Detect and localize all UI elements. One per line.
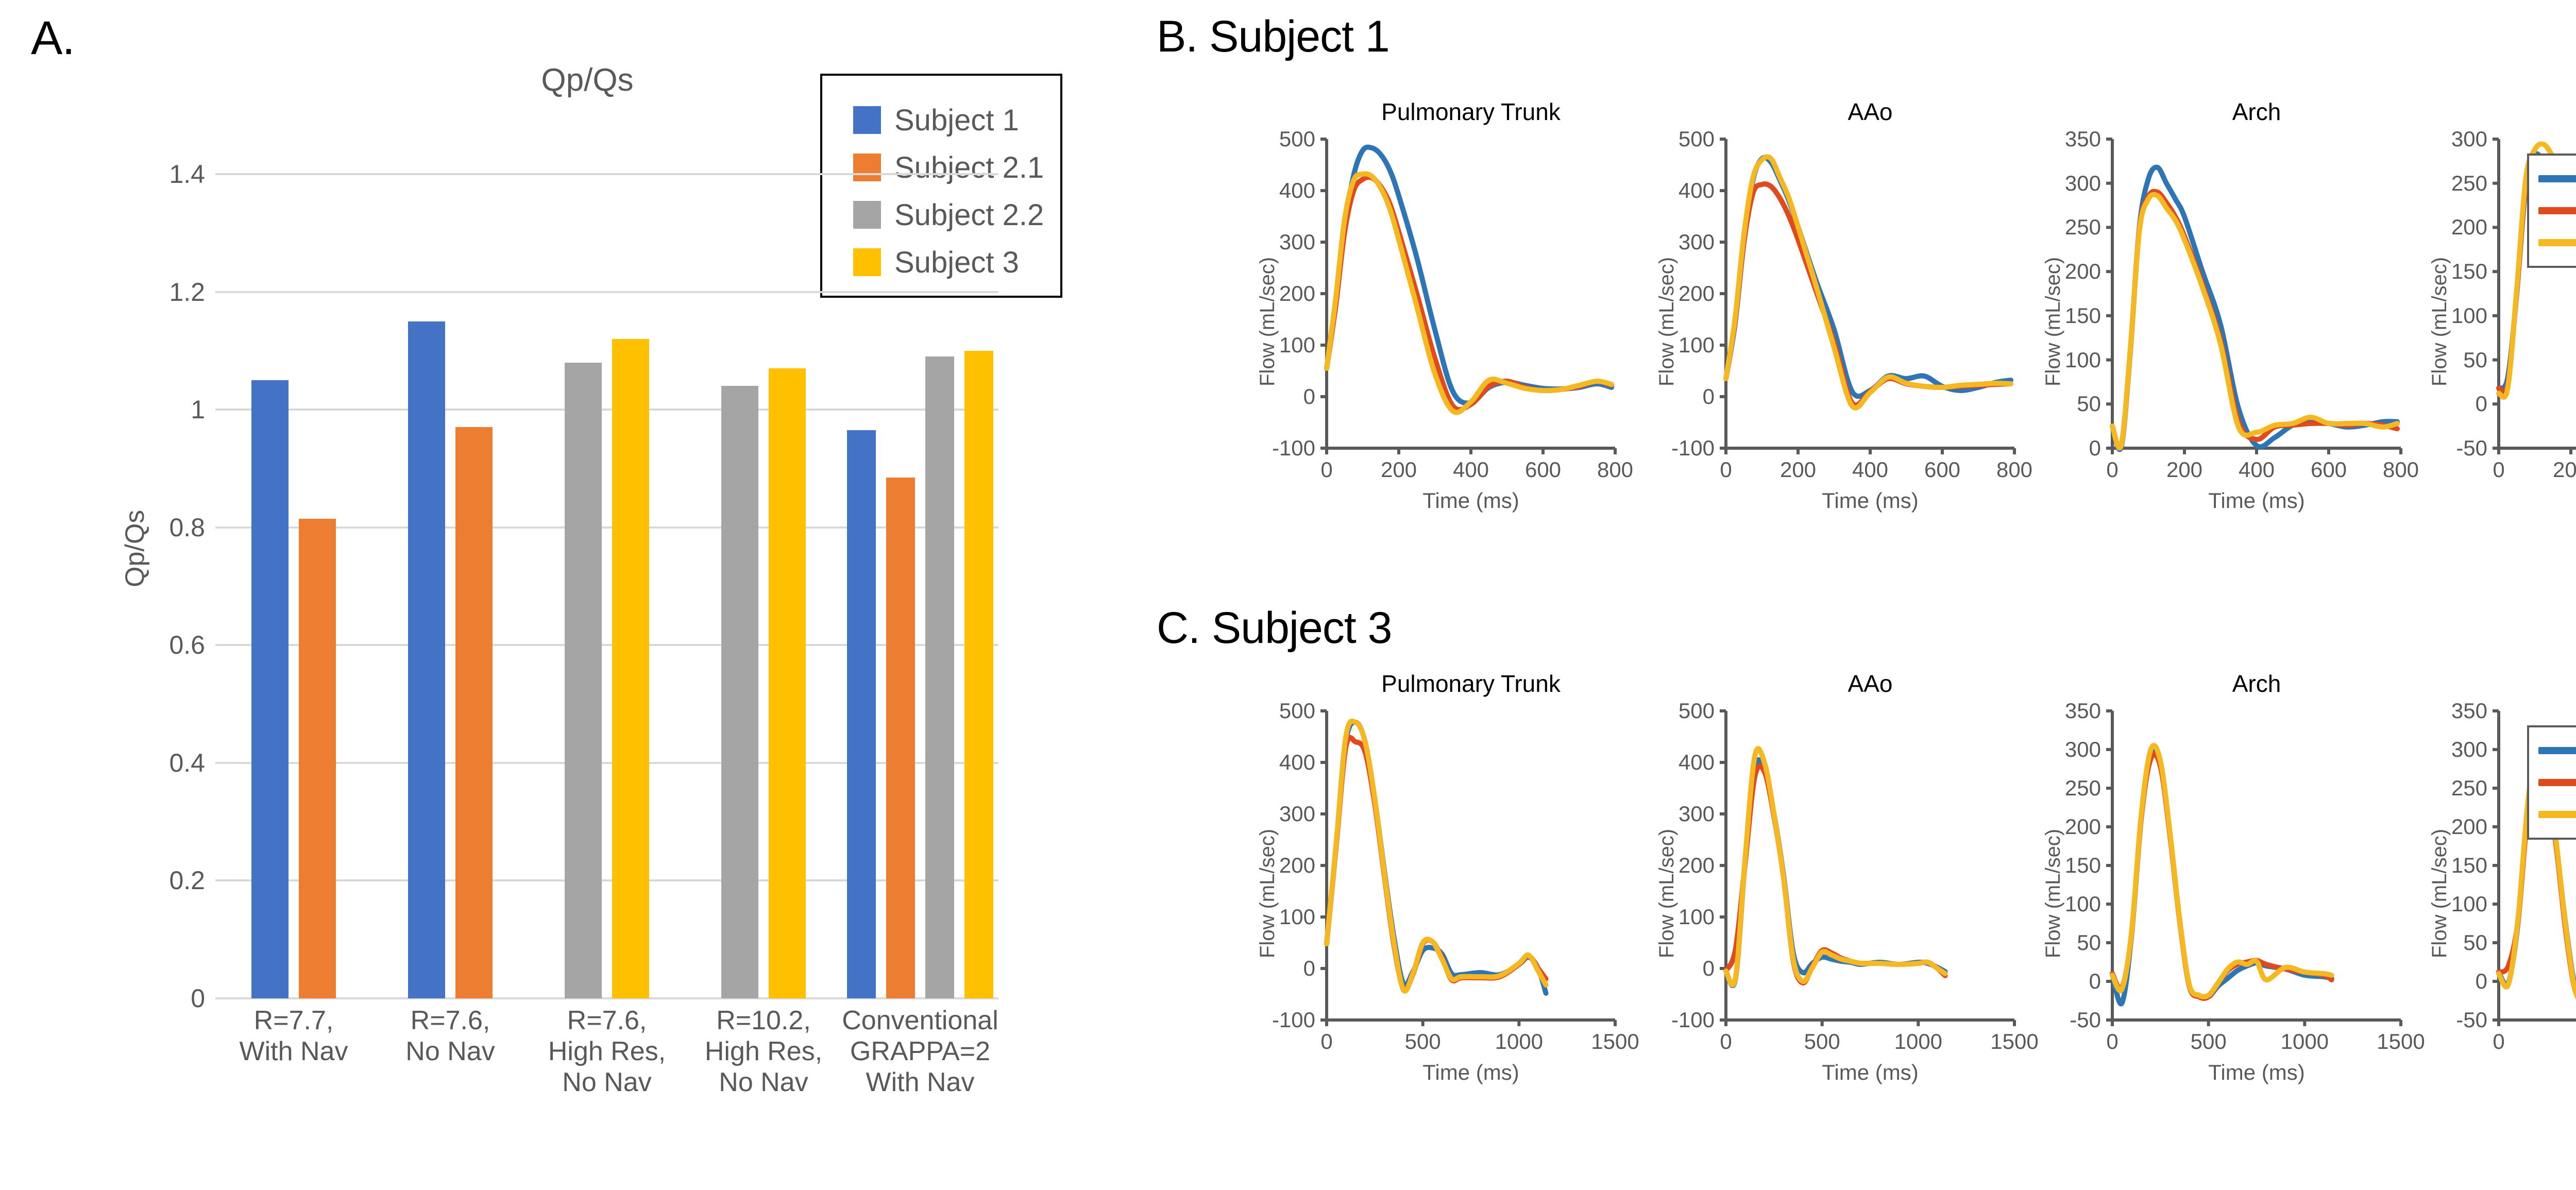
- bar[interactable]: [721, 386, 758, 998]
- bar[interactable]: [299, 519, 336, 998]
- x-axis-category-label: ConventionalGRAPPA=2With Nav: [842, 1006, 998, 1098]
- y-axis-tick-label: 1.4: [102, 159, 205, 189]
- flow-subplot-b_dao: DAoFlow (mL/sec)Time (ms)-50050100150200…: [2409, 98, 2576, 525]
- flow-subplot-b_pulmonary_trunk: Pulmonary TrunkFlow (mL/sec)Time (ms)-10…: [1236, 98, 1646, 525]
- y-axis-tick-label: 1: [102, 395, 205, 424]
- panel-a-bar-chart: A. Qp/Qs Subject 1 Subject 2.1 Subject 2…: [0, 0, 1144, 1190]
- y-axis-tick-label: 0.4: [102, 748, 205, 778]
- bar[interactable]: [455, 427, 493, 998]
- flow-curve: [1726, 157, 2011, 407]
- legend-item[interactable]: Subject 1: [853, 96, 1060, 144]
- x-axis-category-label: R=7.7,With Nav: [215, 1006, 372, 1067]
- flow-curve: [1726, 766, 1945, 983]
- legend-line-swatch: [2538, 811, 2576, 818]
- flow-legend: R=7.6, No NavR=7.7, With NavConventional…: [2527, 154, 2576, 268]
- bar-group: [372, 174, 529, 998]
- flow-subplot-c_aao: AAoFlow (mL/sec)Time (ms)-10001002003004…: [1636, 670, 2045, 1097]
- legend-line-swatch: [2538, 747, 2576, 754]
- x-axis-category-label: R=7.6,No Nav: [372, 1006, 529, 1067]
- flow-curve: [2112, 192, 2397, 448]
- flow-subplot-c_dao: DAoFlow (mL/sec)Time (ms)-50050100150200…: [2409, 670, 2576, 1097]
- x-axis-category-label: R=10.2,High Res,No Nav: [685, 1006, 842, 1098]
- subplot-x-axis-label: Time (ms): [1726, 488, 2014, 513]
- flow-curve: [2112, 167, 2397, 450]
- flow-curve: [1327, 174, 1612, 412]
- legend-line-swatch: [2538, 779, 2576, 786]
- bar[interactable]: [612, 339, 649, 998]
- subplot-x-axis-label: Time (ms): [1726, 1060, 2014, 1085]
- y-axis-tick-label: 0.2: [102, 865, 205, 895]
- y-axis-tick-label: 0.6: [102, 630, 205, 660]
- flow-legend: R=7.6, High Res, No NavR=10.2, High Res,…: [2527, 725, 2576, 840]
- flow-subplot-b_arch: ArchFlow (mL/sec)Time (ms)05010015020025…: [2022, 98, 2432, 525]
- subplot-canvas: [2022, 670, 2432, 1041]
- flow-curve: [1726, 760, 1945, 985]
- subplot-canvas: [1236, 670, 1646, 1041]
- legend-line-swatch: [2538, 175, 2576, 182]
- bar-group: [685, 174, 842, 998]
- bar[interactable]: [408, 321, 445, 998]
- flow-curve: [2112, 195, 2397, 448]
- legend-line-swatch: [2538, 239, 2576, 246]
- bar-chart-title: Qp/Qs: [479, 62, 696, 98]
- legend-item[interactable]: R=7.7, With Nav: [2538, 195, 2576, 227]
- legend-item[interactable]: Conventional, With Nav: [2538, 798, 2576, 830]
- flow-curve: [1327, 177, 1612, 410]
- bar[interactable]: [251, 380, 289, 998]
- subplot-x-axis-label: Time (ms): [2499, 488, 2576, 513]
- bar-group: [529, 174, 685, 998]
- bar-group: [215, 174, 372, 998]
- flow-subplot-b_aao: AAoFlow (mL/sec)Time (ms)-10001002003004…: [1636, 98, 2045, 525]
- legend-swatch-subject1: [853, 106, 881, 134]
- legend-line-swatch: [2538, 207, 2576, 214]
- flow-curve: [1327, 147, 1612, 403]
- bar[interactable]: [565, 363, 602, 998]
- bar[interactable]: [769, 368, 806, 998]
- legend-label: Subject 1: [894, 103, 1019, 138]
- flow-curve: [1726, 184, 2011, 405]
- subplot-canvas: [2022, 98, 2432, 469]
- legend-item[interactable]: R=10.2, High Res, No Nav: [2538, 767, 2576, 798]
- flow-curve: [2112, 745, 2332, 997]
- bar[interactable]: [847, 430, 876, 998]
- subplot-x-axis-label: Time (ms): [1327, 1060, 1615, 1085]
- subplot-canvas: [1636, 98, 2045, 469]
- y-axis-tick-label: 0: [102, 983, 205, 1013]
- x-axis-category-label: R=7.6,High Res,No Nav: [529, 1006, 685, 1098]
- bar[interactable]: [964, 351, 993, 998]
- flow-subplot-c_arch: ArchFlow (mL/sec)Time (ms)-5005010015020…: [2022, 670, 2432, 1097]
- subplot-canvas: [1636, 670, 2045, 1041]
- bar-chart-plot-area: 00.20.40.60.811.21.4: [215, 174, 998, 998]
- flow-curve: [1726, 749, 1945, 985]
- y-axis-tick-label: 0.8: [102, 513, 205, 542]
- subplot-x-axis-label: Time (ms): [2112, 488, 2401, 513]
- legend-item[interactable]: R=7.6, No Nav: [2538, 163, 2576, 195]
- panel-b-letter: B. Subject 1: [1157, 11, 1389, 62]
- subplot-x-axis-label: Time (ms): [2112, 1060, 2401, 1085]
- bar[interactable]: [886, 478, 915, 998]
- legend-item[interactable]: Conventional, With Nav: [2538, 227, 2576, 259]
- legend-item[interactable]: R=7.6, High Res, No Nav: [2538, 735, 2576, 767]
- panel-a-letter: A.: [31, 11, 75, 65]
- y-axis-tick-label: 1.2: [102, 277, 205, 307]
- flow-curve: [1327, 721, 1546, 991]
- flow-curve: [1726, 158, 2011, 397]
- flow-subplot-c_pulmonary_trunk: Pulmonary TrunkFlow (mL/sec)Time (ms)-10…: [1236, 670, 1646, 1097]
- bar[interactable]: [925, 356, 954, 998]
- subplot-x-axis-label: Time (ms): [1327, 488, 1615, 513]
- panel-c-letter: C. Subject 3: [1157, 603, 1392, 654]
- bar-group: [842, 174, 998, 998]
- subplot-x-axis-label: Time (ms): [2499, 1060, 2576, 1085]
- subplot-canvas: [1236, 98, 1646, 469]
